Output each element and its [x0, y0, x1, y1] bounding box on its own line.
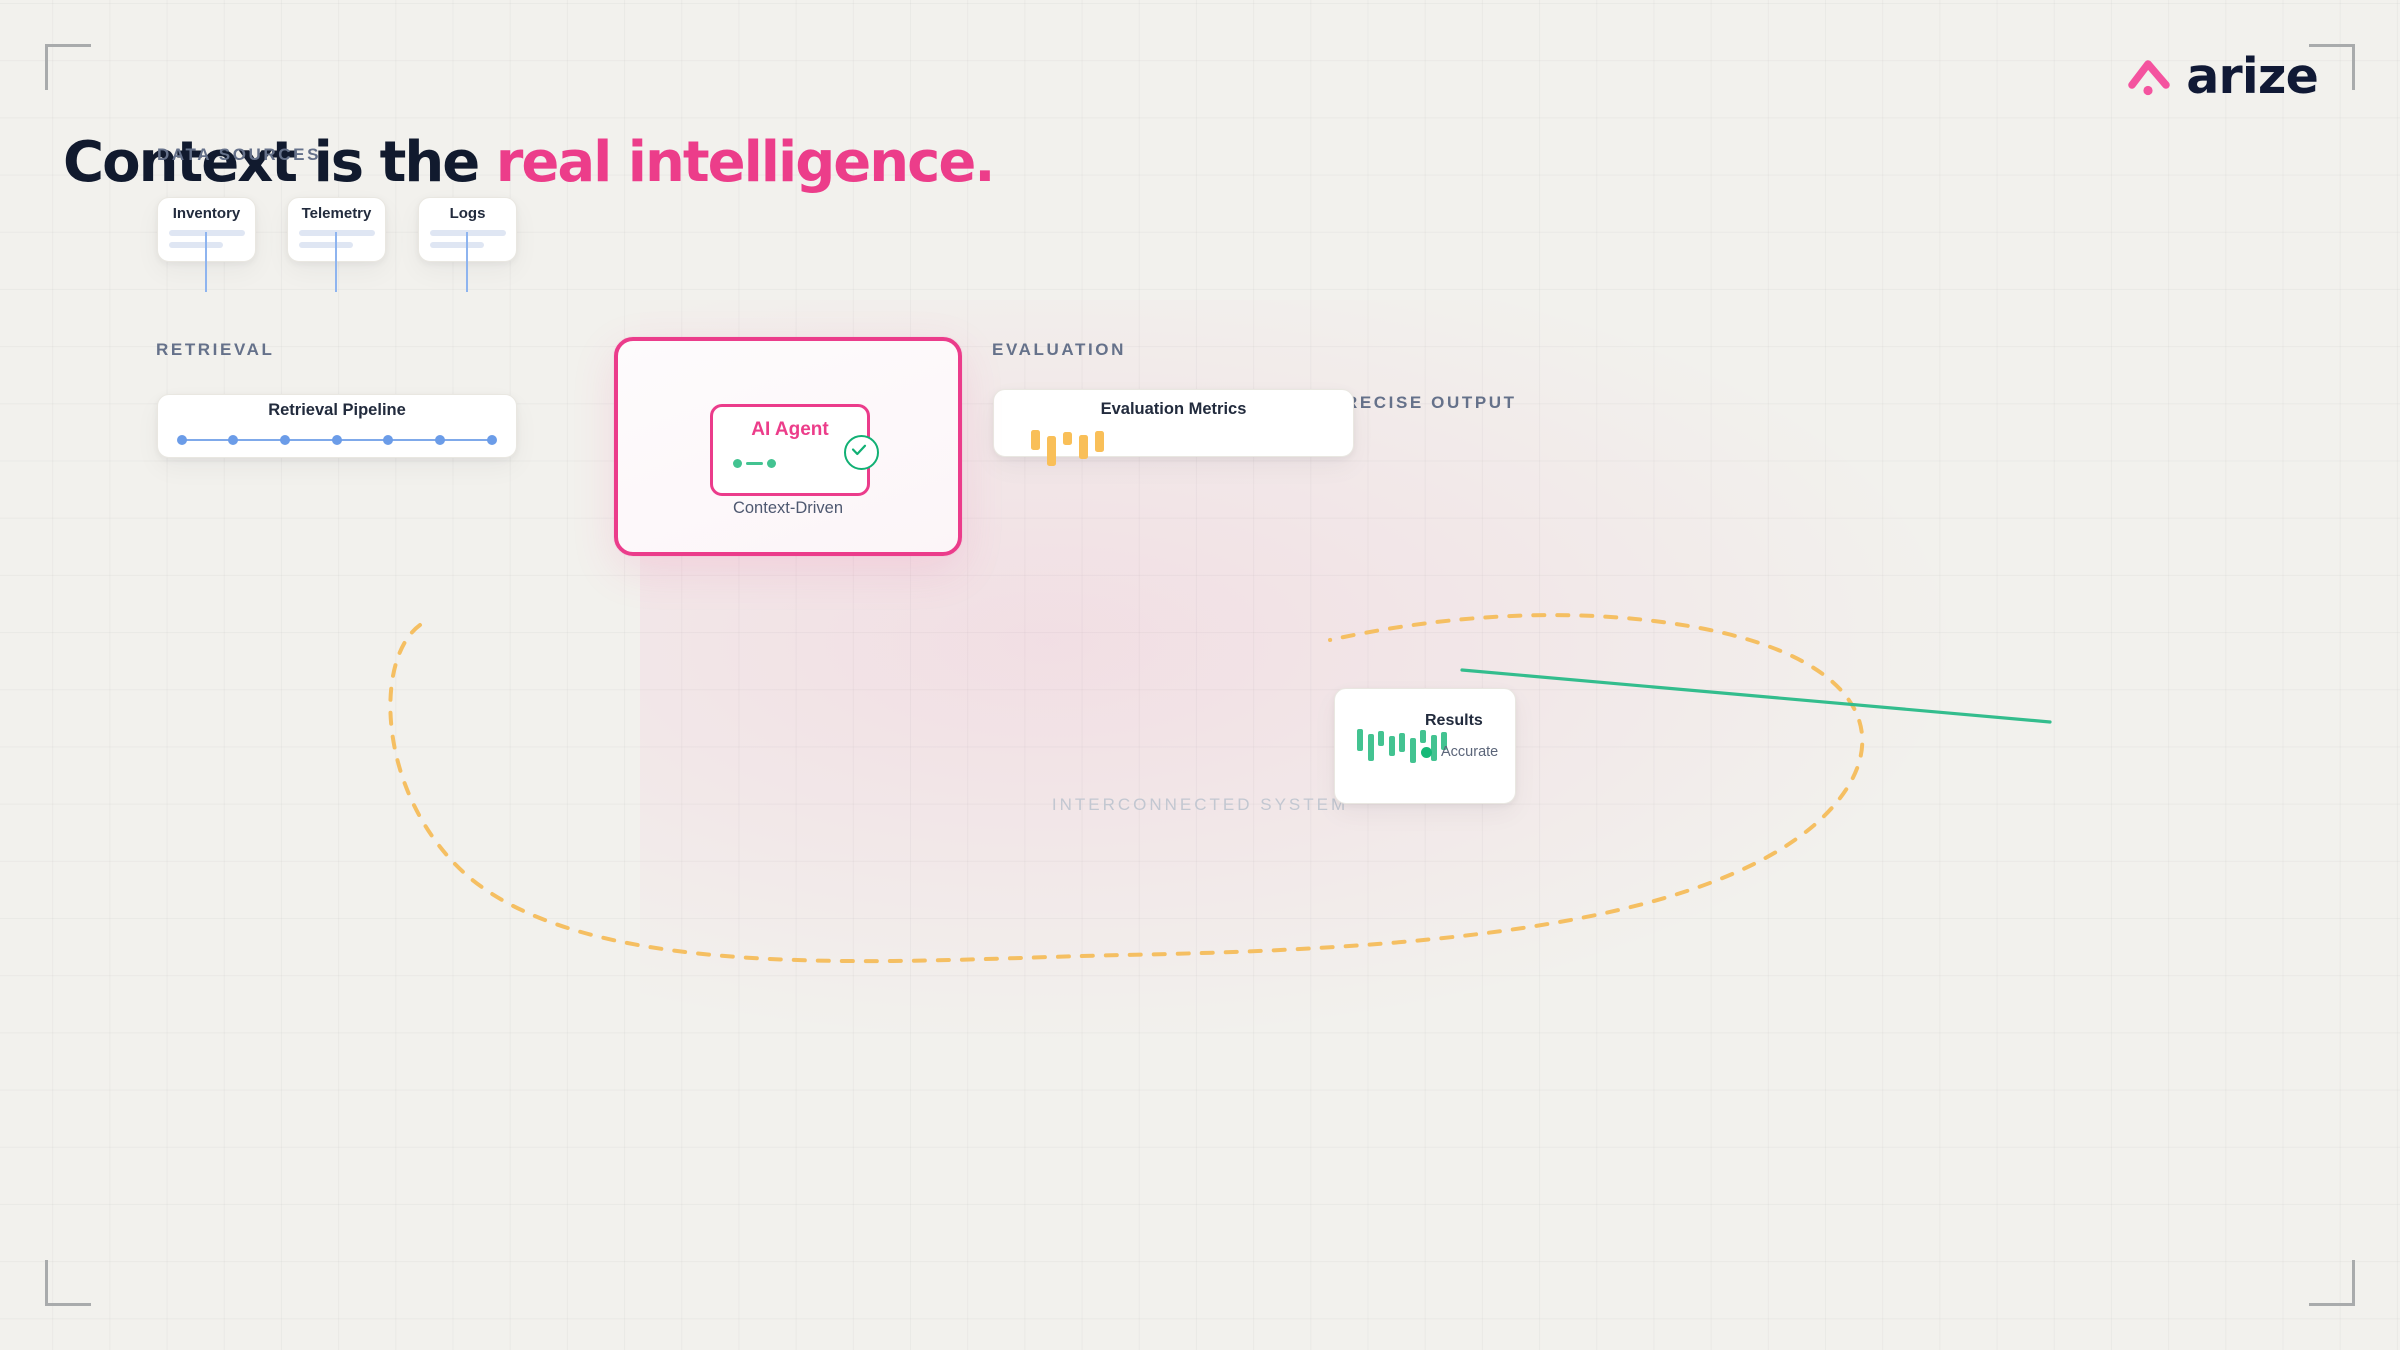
card-title: Evaluation Metrics — [994, 400, 1353, 419]
pipeline-track — [182, 439, 492, 441]
ai-agent-card[interactable]: AI Agent — [710, 404, 870, 496]
result-bar — [1368, 734, 1374, 761]
agent-caption: Context-Driven — [618, 499, 958, 518]
pipeline-node — [177, 435, 187, 445]
check-circle-icon — [844, 435, 879, 470]
connector-inventory — [205, 232, 207, 292]
metric-bar — [1063, 432, 1072, 445]
section-label-evaluation: EVALUATION — [992, 340, 1126, 360]
result-bar — [1410, 738, 1416, 763]
corner-bracket-top-left — [45, 44, 91, 90]
pipeline-node — [487, 435, 497, 445]
section-label-precise-output: PRECISE OUTPUT — [1331, 393, 1517, 413]
placeholder-bars — [299, 230, 375, 248]
arize-chevron-icon — [2126, 55, 2172, 99]
card-title: Results — [1425, 712, 1483, 730]
metric-bar — [1047, 436, 1056, 466]
evaluation-metrics-card[interactable]: Evaluation Metrics — [993, 389, 1354, 457]
results-legend: Accurate — [1421, 744, 1498, 760]
pipeline-node — [332, 435, 342, 445]
card-title: Retrieval Pipeline — [158, 401, 516, 420]
result-bar — [1357, 729, 1363, 751]
placeholder-bars — [430, 230, 506, 248]
section-label-data-sources: DATA SOURCES — [157, 145, 321, 165]
brand-wordmark: arize — [2186, 52, 2318, 101]
status-dot-green-icon — [1421, 747, 1432, 758]
node-link-icon — [733, 459, 776, 468]
metric-bar — [1095, 431, 1104, 452]
pipeline-node — [228, 435, 238, 445]
pipeline-node — [435, 435, 445, 445]
result-bar — [1399, 733, 1405, 752]
connector-logs — [466, 232, 468, 292]
placeholder-bars — [169, 230, 245, 248]
results-card[interactable]: Results Accurate — [1334, 688, 1516, 804]
section-label-retrieval: RETRIEVAL — [156, 340, 274, 360]
retrieval-pipeline-card[interactable]: Retrieval Pipeline — [157, 394, 517, 458]
card-title: Telemetry — [288, 205, 385, 222]
agent-to-results-line — [1462, 670, 2050, 722]
headline-accent: real intelligence. — [496, 130, 994, 195]
dashed-flow-path — [390, 615, 1862, 961]
card-title: Inventory — [158, 205, 255, 222]
metric-bar — [1079, 435, 1088, 459]
result-bar — [1378, 731, 1384, 746]
agent-container[interactable]: AI Agent Context-Driven — [614, 337, 962, 556]
results-legend-label: Accurate — [1441, 744, 1498, 760]
pipeline-node — [383, 435, 393, 445]
pipeline-node — [280, 435, 290, 445]
connector-telemetry — [335, 232, 337, 292]
brand-logo[interactable]: arize — [2126, 52, 2318, 101]
result-bar — [1389, 736, 1395, 756]
footer-label-interconnected-system: INTERCONNECTED SYSTEM — [0, 795, 2400, 815]
agent-title: AI Agent — [713, 419, 867, 441]
card-title: Logs — [419, 205, 516, 222]
result-bar — [1420, 730, 1426, 743]
corner-bracket-bottom-left — [45, 1260, 91, 1306]
metric-bar — [1031, 430, 1040, 450]
corner-bracket-bottom-right — [2309, 1260, 2355, 1306]
